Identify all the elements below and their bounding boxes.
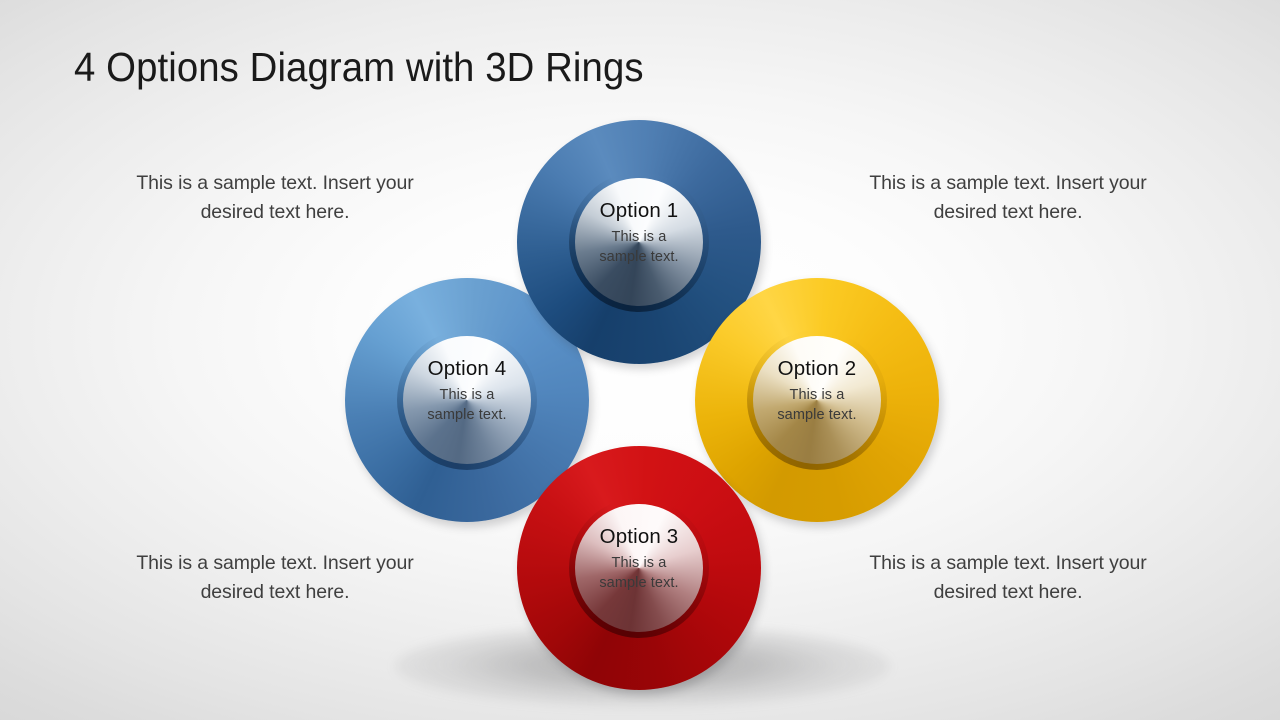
ring-2-subtitle: This is a sample text. [695,385,939,425]
page-title: 4 Options Diagram with 3D Rings [74,40,644,94]
ring-option-3[interactable]: Option 3 This is a sample text. [517,446,761,690]
ring-4-subtitle-line2: sample text. [427,407,506,423]
ring-3-subtitle: This is a sample text. [517,553,761,593]
ring-4-subtitle: This is a sample text. [345,385,589,425]
ring-4-label: Option 4 This is a sample text. [345,356,589,425]
ring-3-subtitle-line2: sample text. [599,575,678,591]
ring-1-label: Option 1 This is a sample text. [517,198,761,267]
ring-1-subtitle-line2: sample text. [599,249,678,265]
caption-bottom-right: This is a sample text. Insert your desir… [843,549,1173,607]
caption-top-right: This is a sample text. Insert your desir… [843,169,1173,227]
ring-4-title: Option 4 [345,356,589,382]
ring-1-title: Option 1 [517,198,761,224]
ring-2-subtitle-line2: sample text. [777,407,856,423]
ring-2-label: Option 2 This is a sample text. [695,356,939,425]
ring-1-subtitle-line1: This is a [612,229,667,245]
ring-3-subtitle-line1: This is a [612,555,667,571]
ring-4-subtitle-line1: This is a [440,387,495,403]
caption-top-left: This is a sample text. Insert your desir… [110,169,440,227]
ring-2-title: Option 2 [695,356,939,382]
ring-2-subtitle-line1: This is a [790,387,845,403]
caption-bottom-left: This is a sample text. Insert your desir… [110,549,440,607]
ring-3-title: Option 3 [517,524,761,550]
slide-canvas: 4 Options Diagram with 3D Rings This is … [0,0,1280,720]
ring-1-subtitle: This is a sample text. [517,227,761,267]
ring-3-label: Option 3 This is a sample text. [517,524,761,593]
ring-option-2[interactable]: Option 2 This is a sample text. [695,278,939,522]
